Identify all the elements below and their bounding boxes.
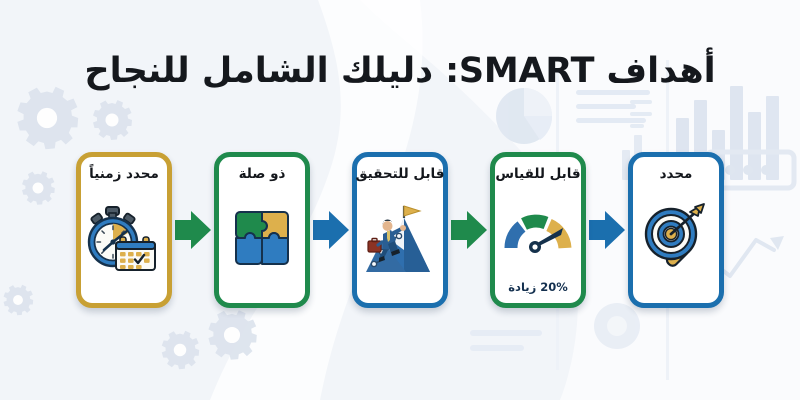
mountain-climber-flag-icon: [357, 182, 443, 294]
step-card-specific[interactable]: محدد: [628, 152, 724, 308]
flow-arrow-2: [448, 206, 490, 254]
puzzle-pieces-icon: [219, 182, 305, 294]
smart-goals-flow: محدد زمنياً: [0, 145, 800, 315]
flow-arrow-1: [586, 206, 628, 254]
step-sublabel-measurable: 20% زيادة: [508, 280, 567, 294]
step-label-achievable: قابل للتحقيق: [356, 166, 445, 182]
step-label-specific: محدد: [660, 166, 693, 182]
title-bar: أهداف SMART: دليلك الشامل للنجاح: [0, 26, 800, 118]
step-label-relevant: ذو صلة: [239, 166, 286, 182]
page-title: أهداف SMART: دليلك الشامل للنجاح: [84, 49, 715, 94]
step-card-achievable[interactable]: قابل للتحقيق: [352, 152, 448, 308]
step-label-time-bound: محدد زمنياً: [89, 166, 159, 182]
gauge-icon: [495, 182, 581, 280]
step-card-relevant[interactable]: ذو صلة: [214, 152, 310, 308]
step-label-measurable: قابل للقياس: [495, 166, 580, 182]
step-card-time-bound[interactable]: محدد زمنياً: [76, 152, 172, 308]
flow-arrow-4: [172, 206, 214, 254]
flow-arrow-3: [310, 206, 352, 254]
target-magnifier-icon: [633, 182, 719, 294]
stopwatch-calendar-icon: [81, 182, 167, 294]
step-card-measurable[interactable]: قابل للقياس 20% زيادة: [490, 152, 586, 308]
